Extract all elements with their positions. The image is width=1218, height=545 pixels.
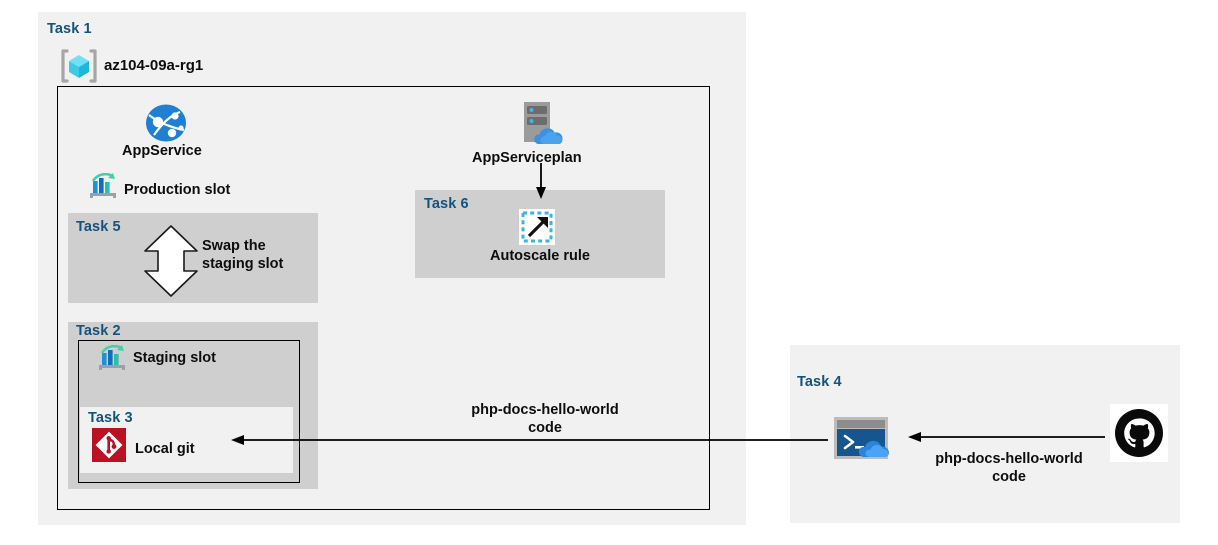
git-icon <box>92 428 126 462</box>
autoscale-rule-label: Autoscale rule <box>490 247 590 265</box>
github-icon <box>1110 404 1168 462</box>
swap-double-arrow-icon <box>143 225 199 297</box>
resource-group-cube-icon <box>60 48 98 84</box>
center-code-flow-label: php-docs-hello-world code <box>462 401 628 437</box>
app-service-globe-icon <box>145 104 187 142</box>
task5-label: Task 5 <box>76 219 121 235</box>
staging-slot-label: Staging slot <box>133 349 216 367</box>
cloud-shell-icon <box>832 415 902 461</box>
task1-label: Task 1 <box>47 21 92 37</box>
github-code-flow-label: php-docs-hello-world code <box>925 450 1093 486</box>
deployment-slot-icon <box>98 345 128 371</box>
task3-label: Task 3 <box>88 410 133 426</box>
task6-label: Task 6 <box>424 196 469 212</box>
app-service-plan-server-cloud-icon <box>512 100 572 148</box>
autoscale-rule-icon <box>519 209 555 245</box>
diagram-canvas: Task 1 az104-09a-rg1 AppService <box>0 0 1218 545</box>
swap-staging-slot-text: Swap the staging slot <box>202 237 283 273</box>
local-git-label: Local git <box>135 440 195 458</box>
task4-label: Task 4 <box>797 374 842 390</box>
production-slot-label: Production slot <box>124 181 230 199</box>
app-service-plan-label: AppServiceplan <box>472 149 582 167</box>
app-service-label: AppService <box>122 142 202 160</box>
deployment-slot-icon <box>89 173 119 199</box>
resource-group-name: az104-09a-rg1 <box>104 57 203 76</box>
task2-label: Task 2 <box>76 323 121 339</box>
